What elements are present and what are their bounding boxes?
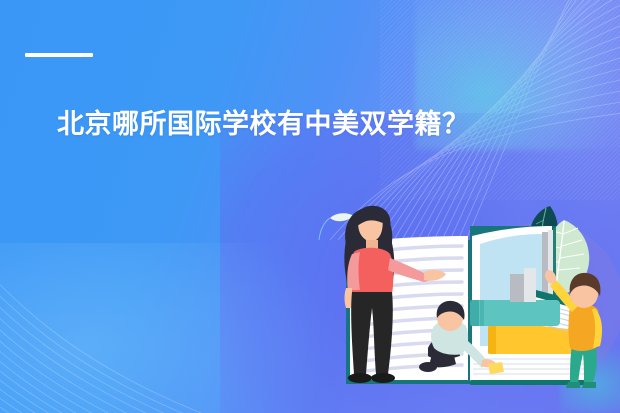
decorative-curve-lines-bottomleft [0,203,270,413]
article-cover-banner: 北京哪所国际学校有中美双学籍？ [0,0,620,413]
title-accent-bar [25,53,93,57]
page-title: 北京哪所国际学校有中美双学籍？ [57,108,470,142]
illustration-students-reading [310,196,620,413]
